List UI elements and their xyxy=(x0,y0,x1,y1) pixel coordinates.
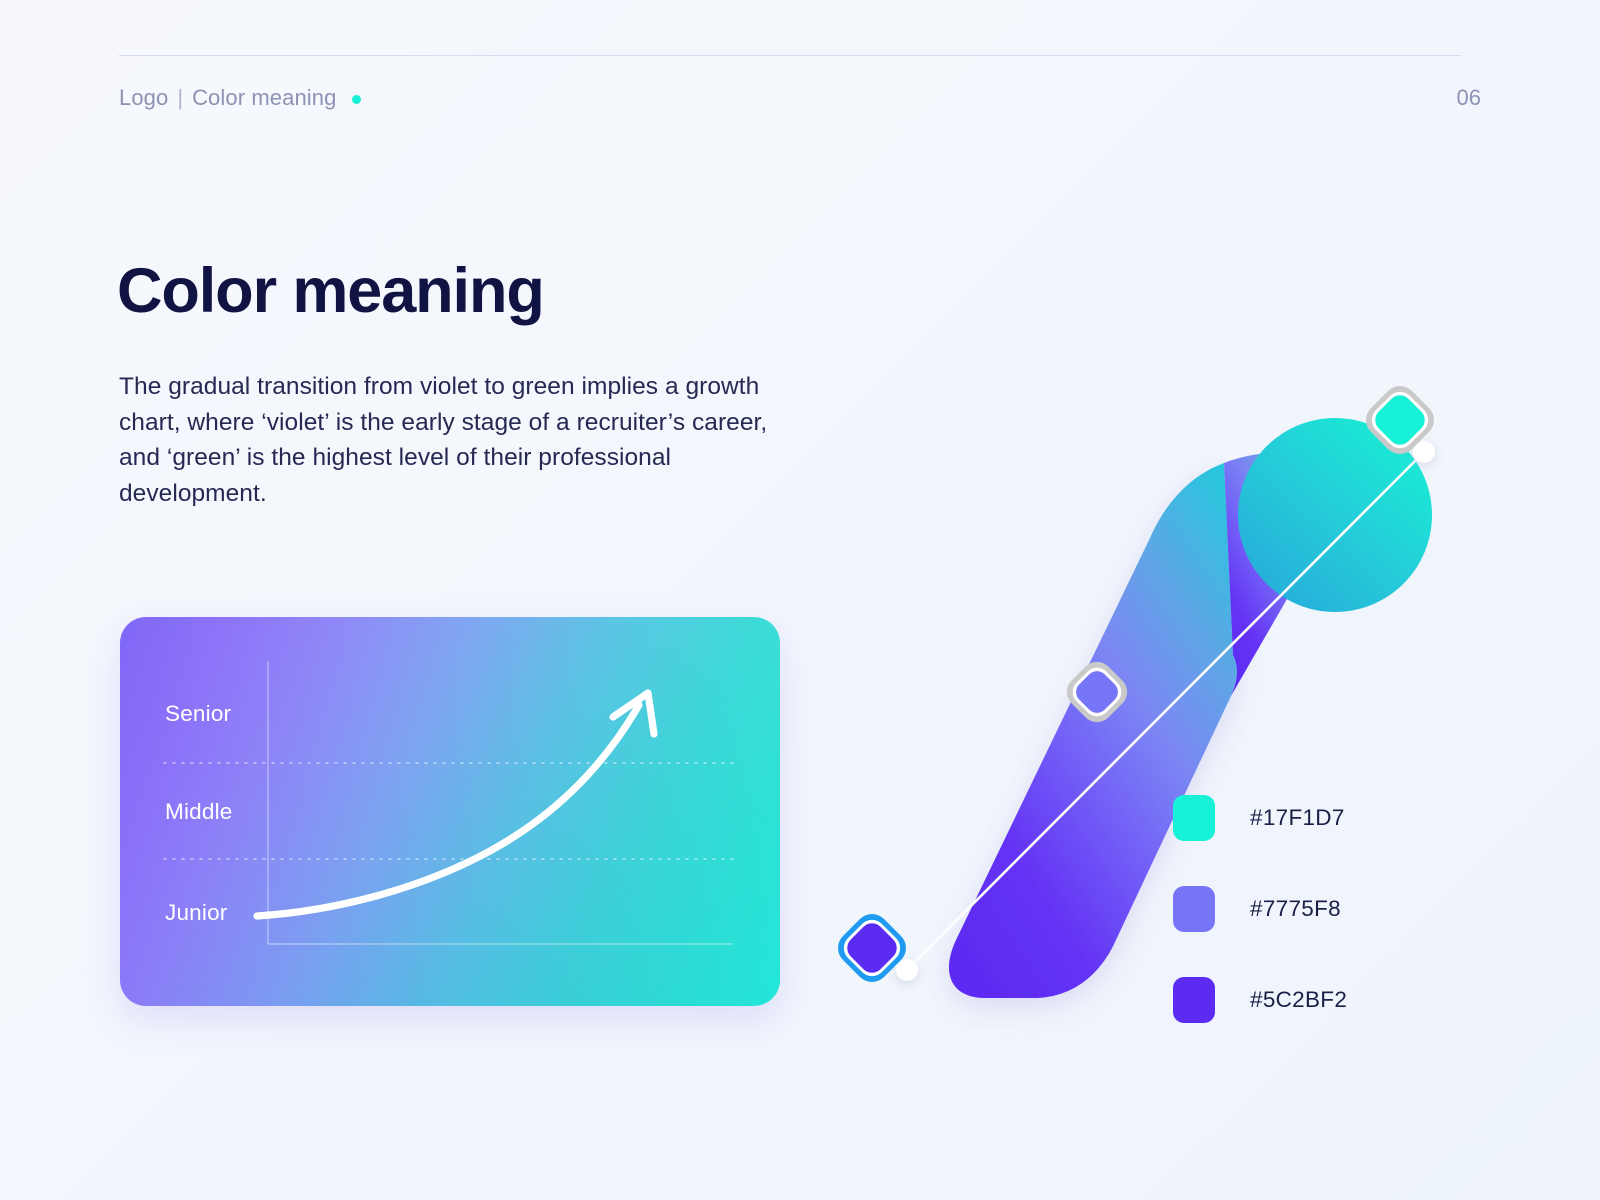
accent-dot-icon xyxy=(352,95,361,104)
color-hex-label: #17F1D7 xyxy=(1250,805,1345,831)
header-divider xyxy=(119,55,1461,56)
palette-row: #17F1D7 xyxy=(1173,795,1433,841)
color-hex-label: #5C2BF2 xyxy=(1250,987,1347,1013)
axis-tick-middle: Middle xyxy=(165,799,232,825)
body-paragraph: The gradual transition from violet to gr… xyxy=(119,369,779,511)
growth-curve xyxy=(257,705,639,916)
breadcrumb-separator: | xyxy=(177,82,183,114)
color-swatch[interactable] xyxy=(1173,795,1215,841)
page-number: 06 xyxy=(1457,82,1481,114)
palette-row: #7775F8 xyxy=(1173,886,1433,932)
page-title: Color meaning xyxy=(117,253,544,329)
palette-row: #5C2BF2 xyxy=(1173,977,1433,1023)
color-palette-legend: #17F1D7 #7775F8 #5C2BF2 xyxy=(1173,795,1433,1023)
breadcrumb-logo[interactable]: Logo xyxy=(119,82,168,114)
color-hex-label: #7775F8 xyxy=(1250,896,1341,922)
slide-canvas: Logo | Color meaning 06 Color meaning Th… xyxy=(0,0,1600,1200)
color-swatch[interactable] xyxy=(1173,886,1215,932)
growth-chart-card: Senior Middle Junior xyxy=(120,617,780,1006)
breadcrumb-current[interactable]: Color meaning xyxy=(192,82,336,114)
color-swatch[interactable] xyxy=(1173,977,1215,1023)
breadcrumb: Logo | Color meaning xyxy=(119,82,361,114)
connector-dot-start xyxy=(896,959,918,981)
axis-tick-junior: Junior xyxy=(165,900,227,926)
axis-tick-senior: Senior xyxy=(165,701,231,727)
